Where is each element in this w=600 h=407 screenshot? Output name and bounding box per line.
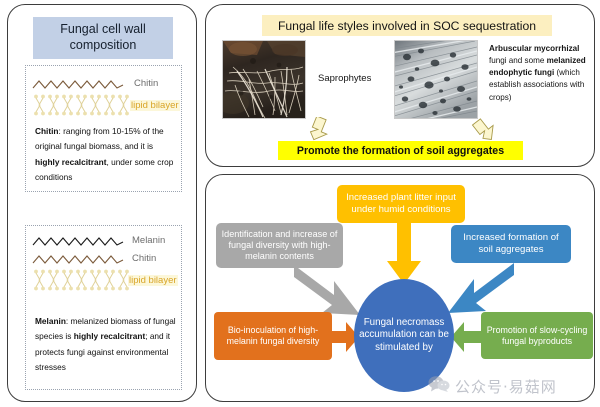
cell-wall-panel: Fungal cell wall composition Chitin: [7, 4, 197, 402]
chitin-card-description: Chitin: ranging from 10-15% of the origi…: [35, 124, 176, 185]
mycorrhizal-label: Arbuscular mycorrhizal fungi and some me…: [489, 43, 593, 104]
saprophytes-photo: [222, 40, 306, 119]
melanin-card-layer-label-1: Chitin: [132, 253, 156, 264]
box-soil-aggregate-formation: Increased formation of soil aggregates: [451, 225, 571, 263]
promote-soil-aggregates-banner: Promote the formation of soil aggregates: [278, 141, 523, 160]
watermark: 公众号·易菇网: [428, 375, 557, 397]
mycorrhizal-photo: [394, 40, 478, 119]
melanin-card: Melanin Chitin: [25, 225, 182, 390]
life-styles-panel: Fungal life styles involved in SOC seque…: [205, 4, 595, 167]
watermark-text: 公众号·易菇网: [455, 376, 557, 397]
chitin-card-layer-label-0: Chitin: [134, 78, 158, 89]
cell-wall-panel-title: Fungal cell wall composition: [33, 17, 173, 59]
life-styles-panel-title: Fungal life styles involved in SOC seque…: [262, 15, 552, 36]
bilayer-icon: [32, 269, 130, 296]
arrow-byproducts-to-center-icon: [450, 321, 484, 358]
melanin-card-layer-label-0: Melanin: [132, 235, 165, 246]
bilayer-icon: [32, 94, 130, 121]
saprophytes-label: Saprophytes: [318, 73, 371, 84]
box-slow-cycling-byproducts: Promotion of slow-cycling fungal byprodu…: [481, 312, 593, 359]
necromass-flow-panel: Increased plant litter input under humid…: [205, 174, 595, 402]
zigzag-melanin-icon: [32, 235, 124, 254]
melanin-card-layer-label-2: lipid bilayer: [128, 275, 178, 286]
box-increased-litter: Increased plant litter input under humid…: [337, 185, 465, 223]
chitin-card-layer-label-1: lipid bilayer: [130, 100, 180, 111]
wechat-bubble-icon: [428, 375, 450, 397]
chitin-card: Chitin: [25, 65, 182, 192]
box-fungal-diversity-identification: Identification and increase of fungal di…: [216, 223, 343, 268]
figure-root: Fungal cell wall composition Chitin: [0, 0, 600, 407]
box-bio-inoculation: Bio-inoculation of high-melanin fungal d…: [214, 312, 332, 360]
melanin-card-description: Melanin: melanized biomass of fungal spe…: [35, 314, 177, 375]
